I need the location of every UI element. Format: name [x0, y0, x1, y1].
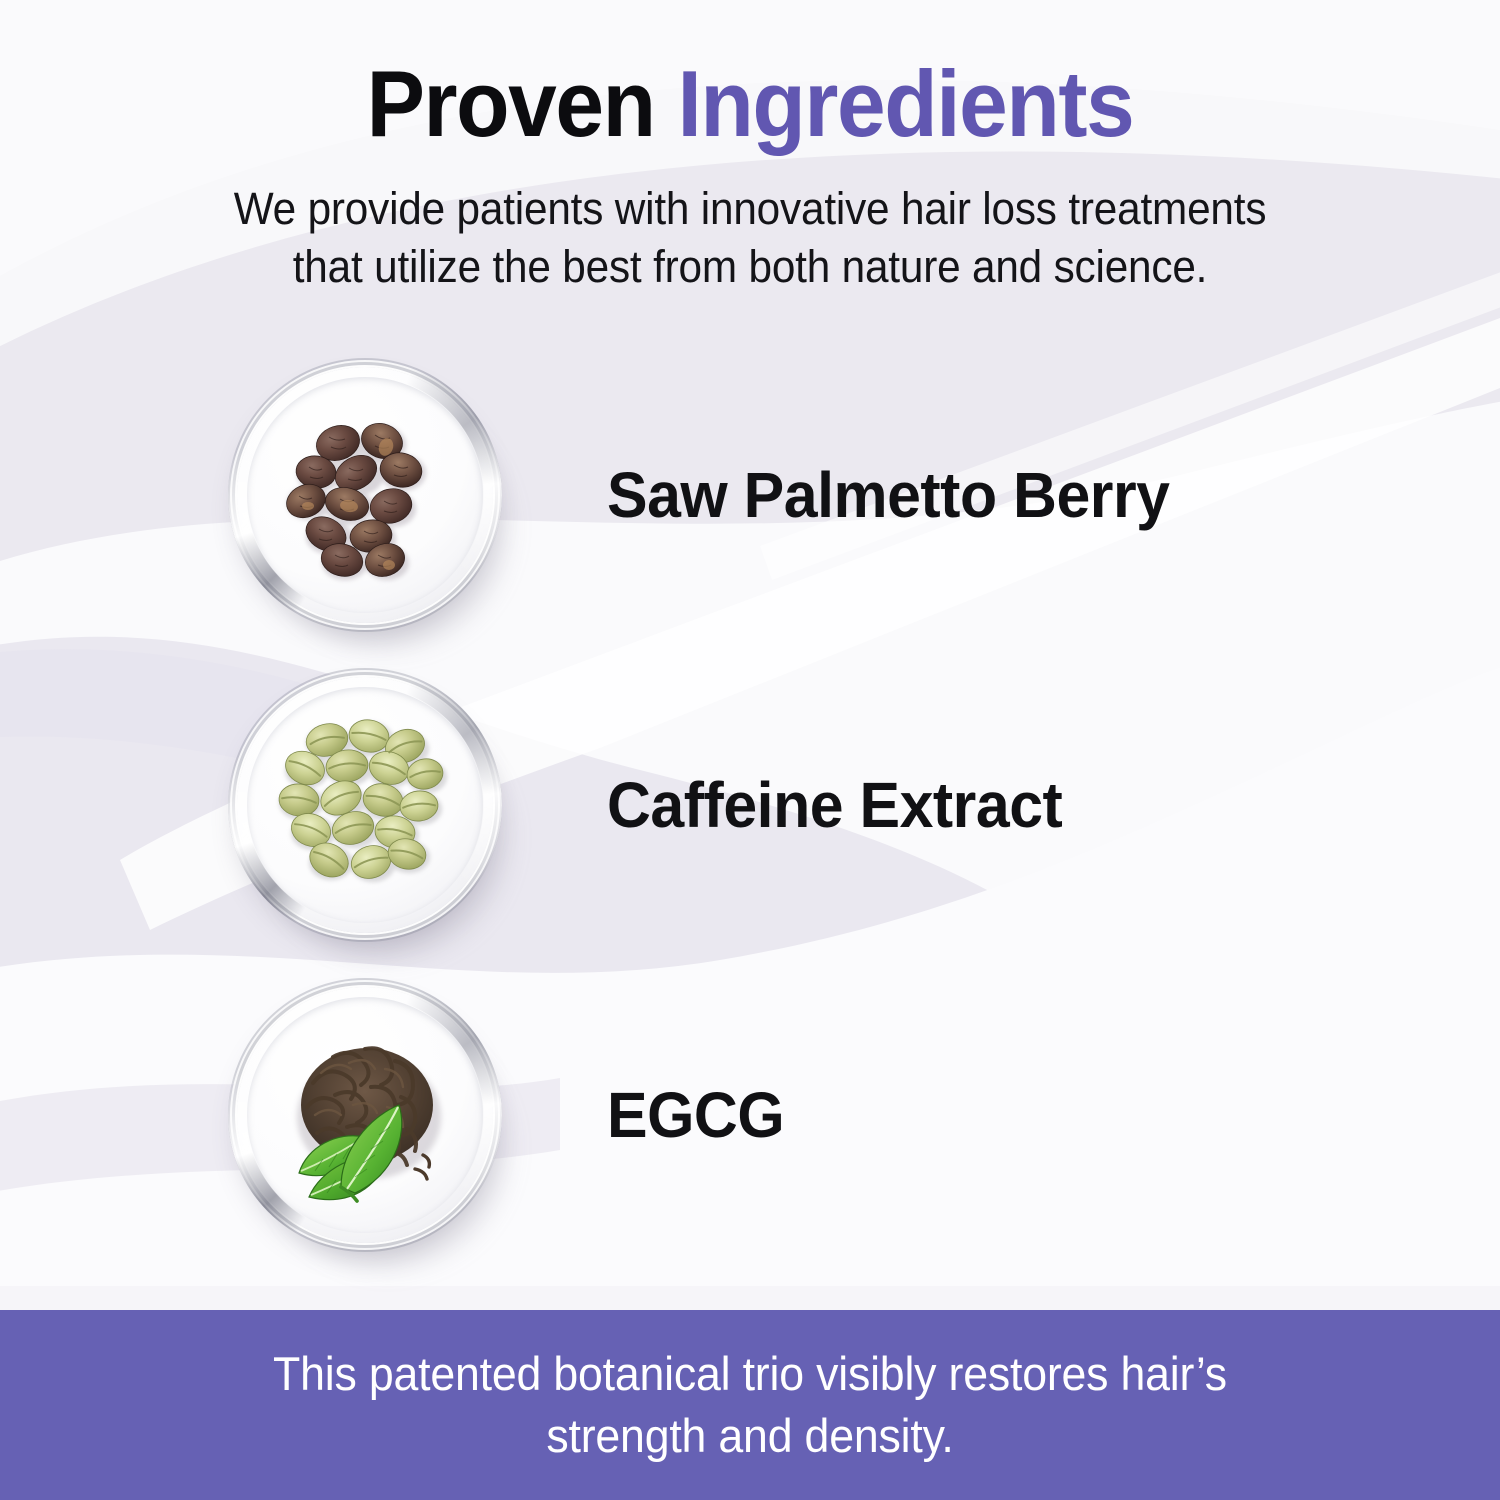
- ingredient-row: Caffeine Extract: [0, 650, 1500, 960]
- petri-dish: [237, 987, 493, 1243]
- banner-text: This patented botanical trio visibly res…: [171, 1343, 1330, 1467]
- page-title-plain: Proven: [367, 51, 678, 156]
- dish-contents-tea-leaves: [237, 987, 493, 1243]
- ingredient-label: EGCG: [607, 1078, 784, 1152]
- petri-dish: [237, 677, 493, 933]
- page-title-accent: Ingredients: [678, 51, 1134, 156]
- page-subtitle: We provide patients with innovative hair…: [186, 180, 1314, 297]
- petri-dish-tea-leaves-icon: [215, 965, 515, 1265]
- petri-dish-green-coffee-beans-icon: [215, 655, 515, 955]
- petri-dish-saw-palmetto-berries-icon: [215, 345, 515, 645]
- promo-graphic: Proven Ingredients We provide patients w…: [0, 0, 1500, 1500]
- banner-line-2: strength and density.: [171, 1405, 1330, 1467]
- header: Proven Ingredients We provide patients w…: [0, 56, 1500, 297]
- ingredient-row: EGCG: [0, 960, 1500, 1270]
- page-subtitle-line-2: that utilize the best from both nature a…: [186, 238, 1314, 297]
- dish-contents-berries: [237, 367, 493, 623]
- bottom-banner: This patented botanical trio visibly res…: [0, 1310, 1500, 1500]
- banner-line-1: This patented botanical trio visibly res…: [171, 1343, 1330, 1405]
- petri-dish: [237, 367, 493, 623]
- page-title: Proven Ingredients: [53, 56, 1448, 152]
- ingredient-label: Saw Palmetto Berry: [607, 458, 1170, 532]
- page-subtitle-line-1: We provide patients with innovative hair…: [186, 180, 1314, 239]
- dish-contents-coffee-beans: [237, 677, 493, 933]
- ingredient-row: Saw Palmetto Berry: [0, 340, 1500, 650]
- ingredient-list: Saw Palmetto Berry: [0, 340, 1500, 1270]
- ingredient-label: Caffeine Extract: [607, 768, 1062, 842]
